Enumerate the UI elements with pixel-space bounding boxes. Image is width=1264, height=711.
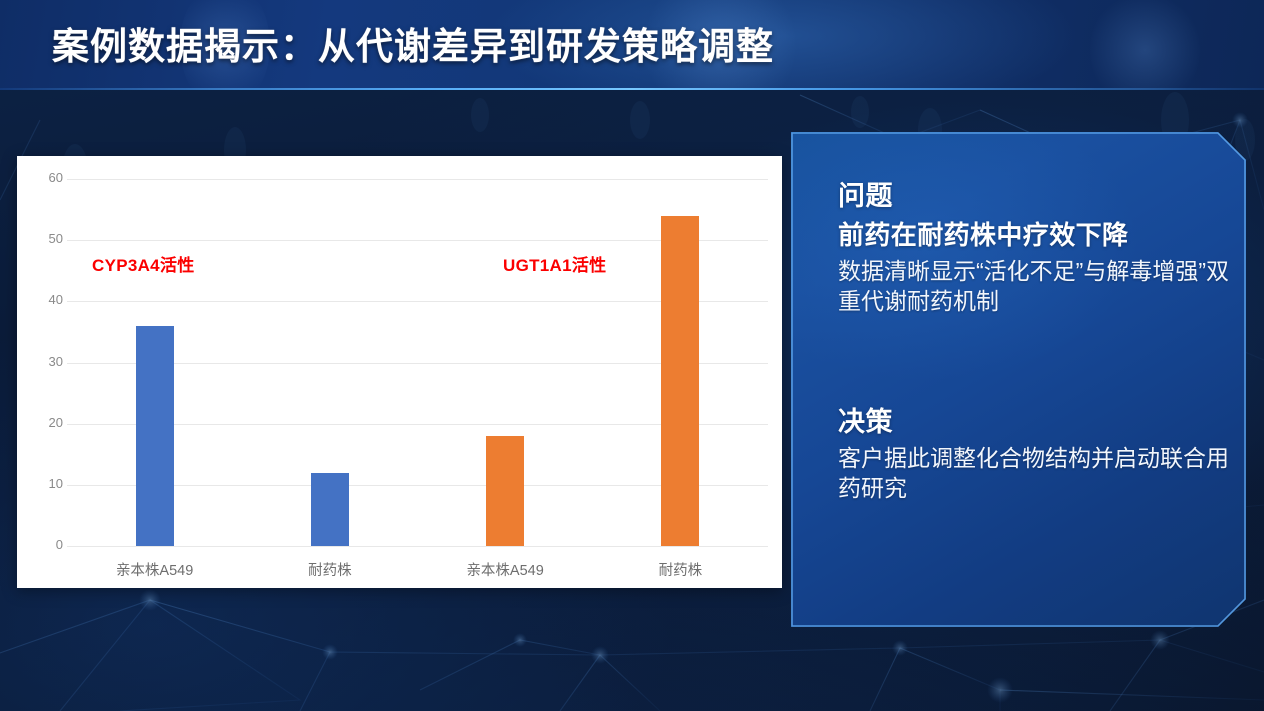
bar-CYP3A4活性-耐药株[interactable] [311,473,349,546]
y-axis-tick-label: 60 [19,170,63,185]
bar-CYP3A4活性-亲本株A549[interactable] [136,326,174,546]
panel-block-0-body: 数据清晰显示“活化不足”与解毒增强”双重代谢耐药机制 [838,257,1234,317]
panel-block-0-heading: 问题 [838,174,893,213]
page-title: 案例数据揭示：从代谢差异到研发策略调整 [52,16,774,70]
bar-UGT1A1活性-耐药株[interactable] [661,216,699,546]
y-axis-tick-label: 10 [19,476,63,491]
x-axis-label: 亲本株A549 [67,559,242,580]
chart-card: 0102030405060亲本株A549耐药株亲本株A549耐药株CYP3A4活… [17,156,782,588]
x-axis-label: 耐药株 [242,559,417,580]
panel-block-0-subheading: 前药在耐药株中疗效下降 [838,215,1128,252]
decorative-glow [1090,0,1200,90]
slide-canvas: 案例数据揭示：从代谢差异到研发策略调整 0102030405060亲本株A549… [0,0,1264,711]
gridline-60 [67,179,768,180]
insight-side-panel: 问题 前药在耐药株中疗效下降 数据清晰显示“活化不足”与解毒增强”双重代谢耐药机… [791,132,1246,627]
y-axis-tick-label: 30 [19,354,63,369]
series-annotation-1: UGT1A1活性 [503,251,606,276]
x-axis-label: 耐药株 [593,559,768,580]
bar-chart-plot: 0102030405060亲本株A549耐药株亲本株A549耐药株CYP3A4活… [17,156,782,588]
y-axis-tick-label: 40 [19,292,63,307]
bar-UGT1A1活性-亲本株A549[interactable] [486,436,524,546]
gridline-0 [67,546,768,547]
series-annotation-0: CYP3A4活性 [92,251,195,276]
panel-block-1-heading: 决策 [838,400,893,439]
slide-title-bar: 案例数据揭示：从代谢差异到研发策略调整 [0,0,1264,90]
y-axis-tick-label: 0 [19,537,63,552]
y-axis-tick-label: 20 [19,415,63,430]
x-axis-label: 亲本株A549 [418,559,593,580]
y-axis-tick-label: 50 [19,231,63,246]
panel-block-1-body: 客户据此调整化合物结构并启动联合用药研究 [838,444,1234,504]
